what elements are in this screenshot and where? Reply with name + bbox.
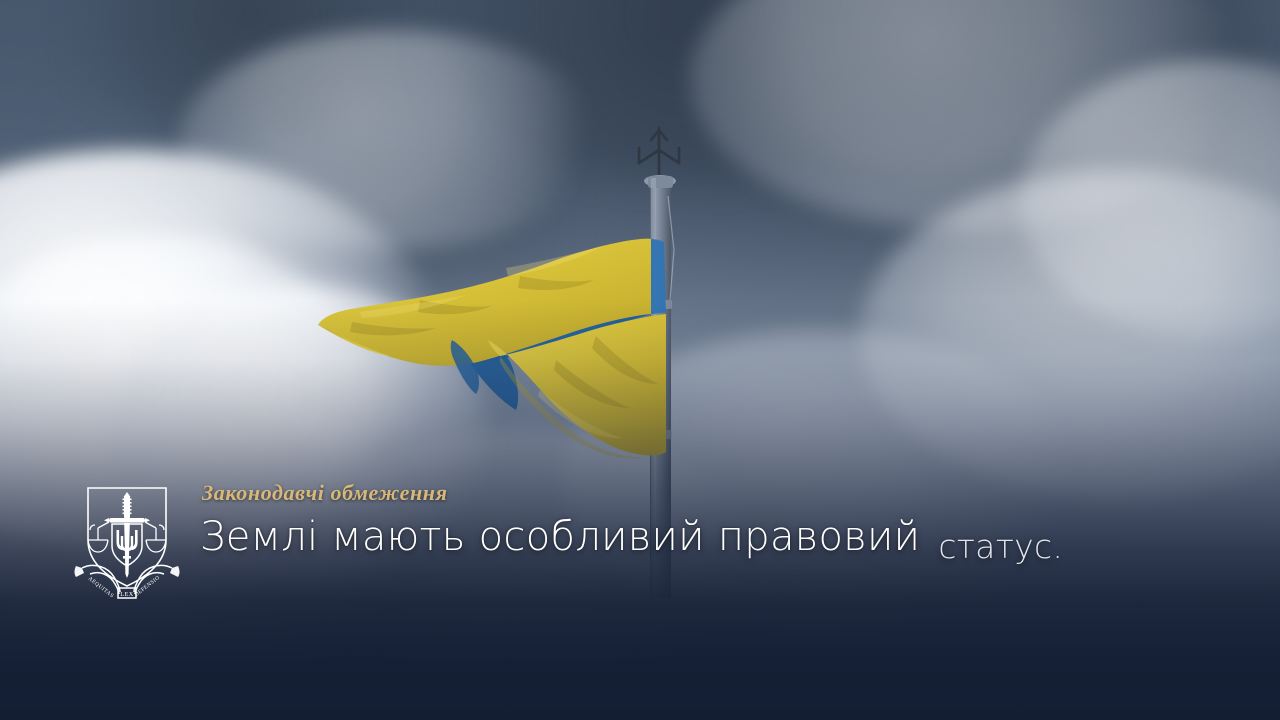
emblem-motto-lex: LEX	[120, 591, 134, 598]
lower-third-caption: LEX AEQUITAS DEFENSIO Законодавчі обмеже…	[0, 470, 1280, 720]
emblem-motto-aequitas: AEQUITAS	[87, 576, 115, 600]
video-frame: LEX AEQUITAS DEFENSIO Законодавчі обмеже…	[0, 0, 1280, 720]
prosecutor-general-office-emblem: LEX AEQUITAS DEFENSIO	[68, 478, 186, 600]
caption-headline-main: Землі мають особливий правовий	[200, 514, 920, 560]
caption-kicker: Законодавчі обмеження	[202, 480, 448, 506]
caption-headline: Землі мають особливий правовий статус.	[200, 514, 1063, 560]
caption-headline-tail: статус.	[938, 527, 1063, 566]
